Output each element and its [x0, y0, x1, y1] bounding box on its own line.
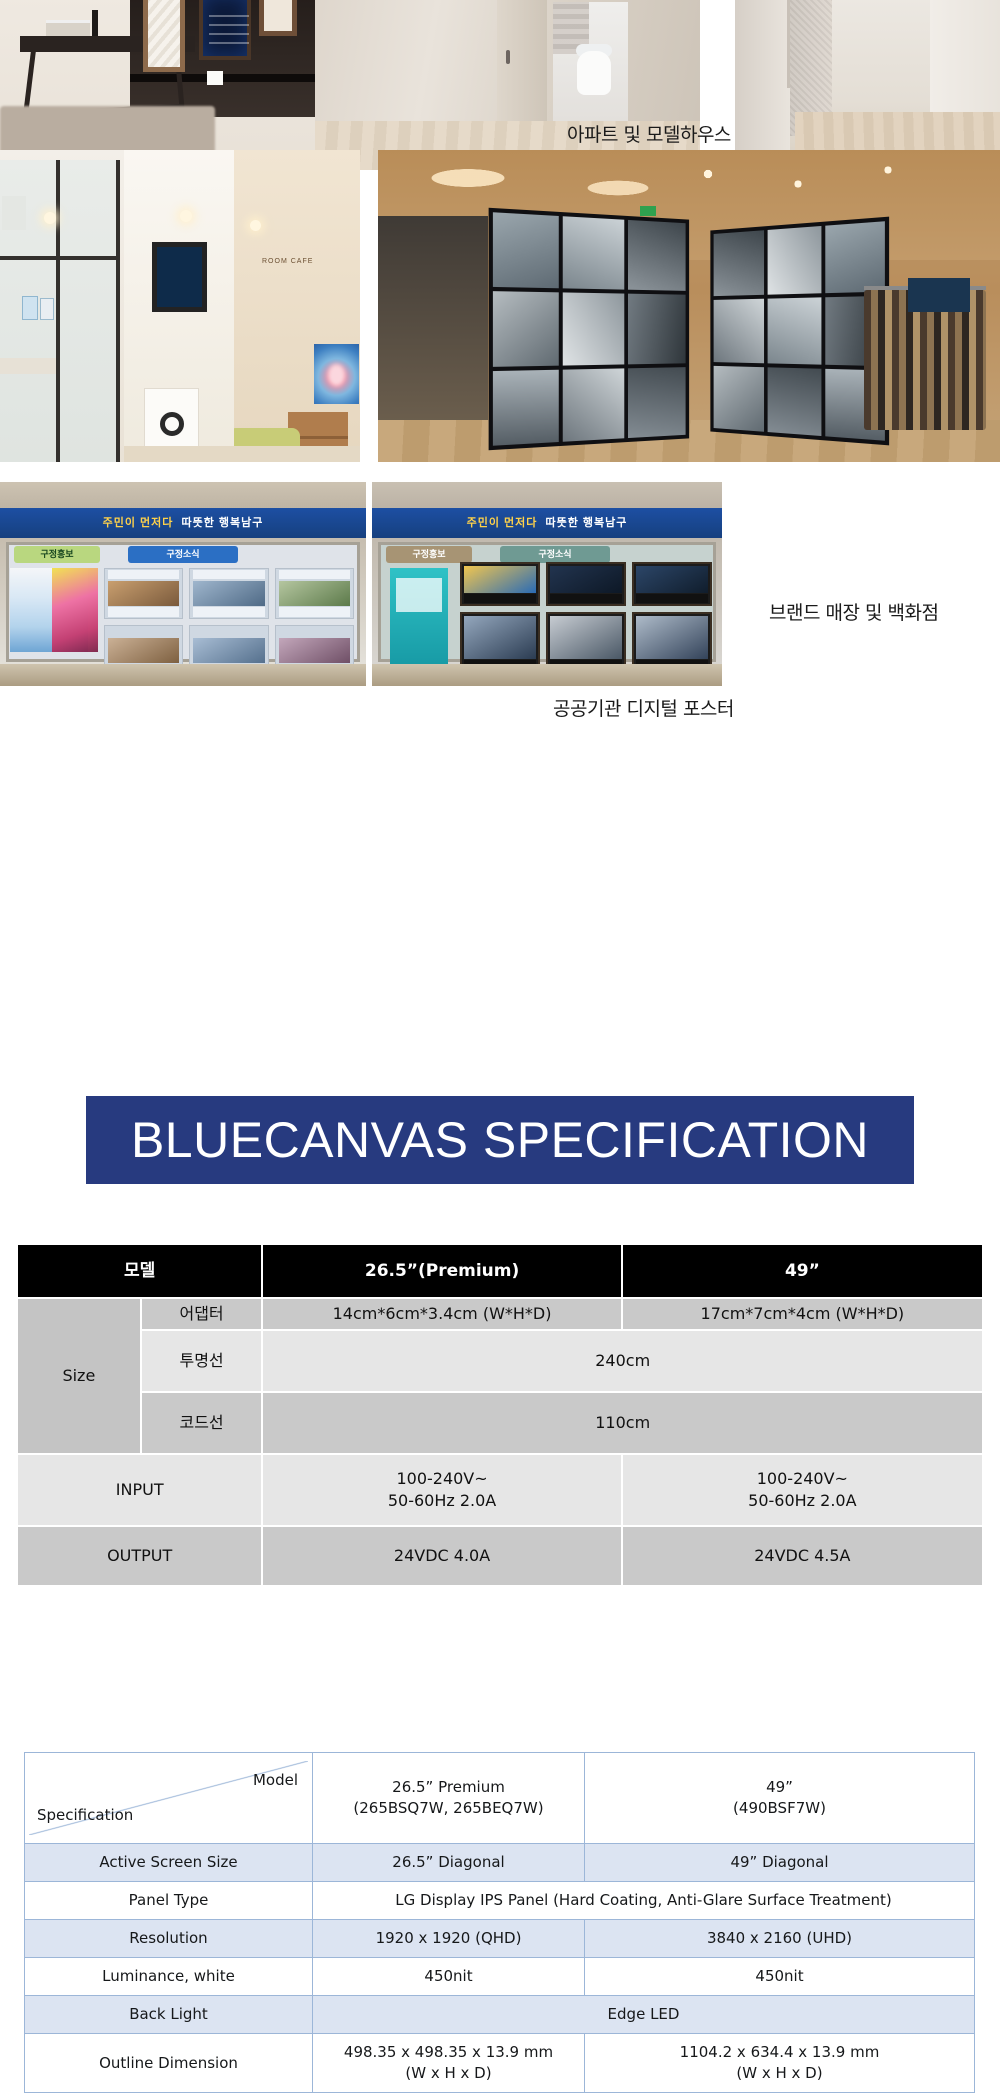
spec-banner-title: BLUECANVAS SPECIFICATION [131, 1111, 869, 1169]
table-row: Luminance, white 450nit 450nit [25, 1958, 975, 1996]
row-label-back-light: Back Light [25, 1996, 313, 2034]
table-row: OUTPUT 24VDC 4.0A 24VDC 4.5A [17, 1526, 983, 1586]
wall-display-frame [199, 0, 251, 60]
poster-board-lcd [390, 568, 448, 664]
cell-luminance-49: 450nit [585, 1958, 975, 1996]
row-label-luminance: Luminance, white [25, 1958, 313, 1996]
table-row: Size 어댑터 14cm*6cm*3.4cm (W*H*D) 17cm*7cm… [17, 1298, 983, 1330]
cell-active-screen-265: 26.5” Diagonal [313, 1844, 585, 1882]
header-model: 모델 [17, 1244, 262, 1298]
header-col-49: 49” [622, 1244, 983, 1298]
table-row: 코드선 110cm [17, 1392, 983, 1454]
cell-resolution-265: 1920 x 1920 (QHD) [313, 1920, 585, 1958]
cell-adapter-265: 14cm*6cm*3.4cm (W*H*D) [262, 1298, 621, 1330]
cell-luminance-265: 450nit [313, 1958, 585, 1996]
row-label-panel-type: Panel Type [25, 1882, 313, 1920]
videowall-side-panel [710, 217, 889, 446]
row-label-transparent-line: 투명선 [141, 1330, 263, 1392]
board-tab-left: 구정홍보 [14, 546, 100, 563]
cell-outline-dimension-265: 498.35 x 498.35 x 13.9 mm (W x H x D) [313, 2034, 585, 2093]
spec-banner: BLUECANVAS SPECIFICATION [86, 1096, 914, 1184]
row-label-outline-dimension: Outline Dimension [25, 2034, 313, 2093]
header-model-49: 49” (490BSF7W) [585, 1753, 975, 1844]
power-spec-table: 모델 26.5”(Premium) 49” Size 어댑터 14cm*6cm*… [16, 1243, 984, 1587]
table-row: INPUT 100-240V~ 50-60Hz 2.0A 100-240V~ 5… [17, 1454, 983, 1526]
caption-public-poster: 공공기관 디지털 포스터 [553, 694, 734, 721]
cell-outline-dimension-49: 1104.2 x 634.4 x 13.9 mm (W x H x D) [585, 2034, 975, 2093]
cell-output-265: 24VDC 4.0A [262, 1526, 621, 1586]
row-label-active-screen-size: Active Screen Size [25, 1844, 313, 1882]
cell-input-265: 100-240V~ 50-60Hz 2.0A [262, 1454, 621, 1526]
photo-brand-store-videowall [378, 150, 1000, 462]
photo-hospital: ROOM CAFE [0, 150, 360, 462]
board-banner-prefix-2: 주민이 먼저다 [467, 517, 538, 529]
videowall-front-panel [489, 208, 689, 450]
cell-transparent-line-value: 240cm [262, 1330, 983, 1392]
display-spec-table: Model Specification 26.5” Premium (265BS… [24, 1752, 975, 2093]
photo-apartment-hallway [735, 0, 1000, 170]
table-row: Panel Type LG Display IPS Panel (Hard Co… [25, 1882, 975, 1920]
corner-diagonal-header: Model Specification [25, 1753, 313, 1844]
photo-public-poster-board-right: 주민이 먼저다 따뜻한 행복남구 구정홍보 구정소식 [372, 482, 722, 686]
row-label-output: OUTPUT [17, 1526, 262, 1586]
corner-label-specification: Specification [37, 1805, 133, 1826]
board-tab-right: 구정소식 [128, 546, 238, 563]
row-label-input: INPUT [17, 1454, 262, 1526]
caption-brand-store: 브랜드 매장 및 백화점 [769, 598, 938, 625]
row-label-resolution: Resolution [25, 1920, 313, 1958]
cell-cord-line-value: 110cm [262, 1392, 983, 1454]
cell-input-49: 100-240V~ 50-60Hz 2.0A [622, 1454, 983, 1526]
row-label-cord-line: 코드선 [141, 1392, 263, 1454]
table-row-header: Model Specification 26.5” Premium (265BS… [25, 1753, 975, 1844]
table-row: 투명선 240cm [17, 1330, 983, 1392]
cell-panel-type-value: LG Display IPS Panel (Hard Coating, Anti… [313, 1882, 975, 1920]
row-group-size: Size [17, 1298, 141, 1454]
row-label-adapter: 어댑터 [141, 1298, 263, 1330]
table-row: Active Screen Size 26.5” Diagonal 49” Di… [25, 1844, 975, 1882]
cell-output-49: 24VDC 4.5A [622, 1526, 983, 1586]
board-banner-prefix: 주민이 먼저다 [103, 517, 174, 529]
cell-adapter-49: 17cm*7cm*4cm (W*H*D) [622, 1298, 983, 1330]
board-banner-suffix: 따뜻한 행복남구 [182, 517, 264, 529]
corner-label-model: Model [253, 1770, 298, 1791]
table-row: Resolution 1920 x 1920 (QHD) 3840 x 2160… [25, 1920, 975, 1958]
table-row-header: 모델 26.5”(Premium) 49” [17, 1244, 983, 1298]
cell-active-screen-49: 49” Diagonal [585, 1844, 975, 1882]
header-model-265: 26.5” Premium (265BSQ7W, 265BEQ7W) [313, 1753, 585, 1844]
header-col-265: 26.5”(Premium) [262, 1244, 621, 1298]
cell-back-light-value: Edge LED [313, 1996, 975, 2034]
caption-apartment: 아파트 및 모델하우스 [567, 120, 731, 147]
board-tab-left-2: 구정홍보 [386, 546, 472, 563]
table-row: Outline Dimension 498.35 x 498.35 x 13.9… [25, 2034, 975, 2093]
table-row: Back Light Edge LED [25, 1996, 975, 2034]
board-banner-suffix-2: 따뜻한 행복남구 [546, 517, 628, 529]
board-tab-right-2: 구정소식 [500, 546, 610, 563]
photo-public-poster-board-left: 주민이 먼저다 따뜻한 행복남구 구정홍보 구정소식 [0, 482, 366, 686]
cell-resolution-49: 3840 x 2160 (UHD) [585, 1920, 975, 1958]
hospital-digital-display [152, 242, 207, 312]
